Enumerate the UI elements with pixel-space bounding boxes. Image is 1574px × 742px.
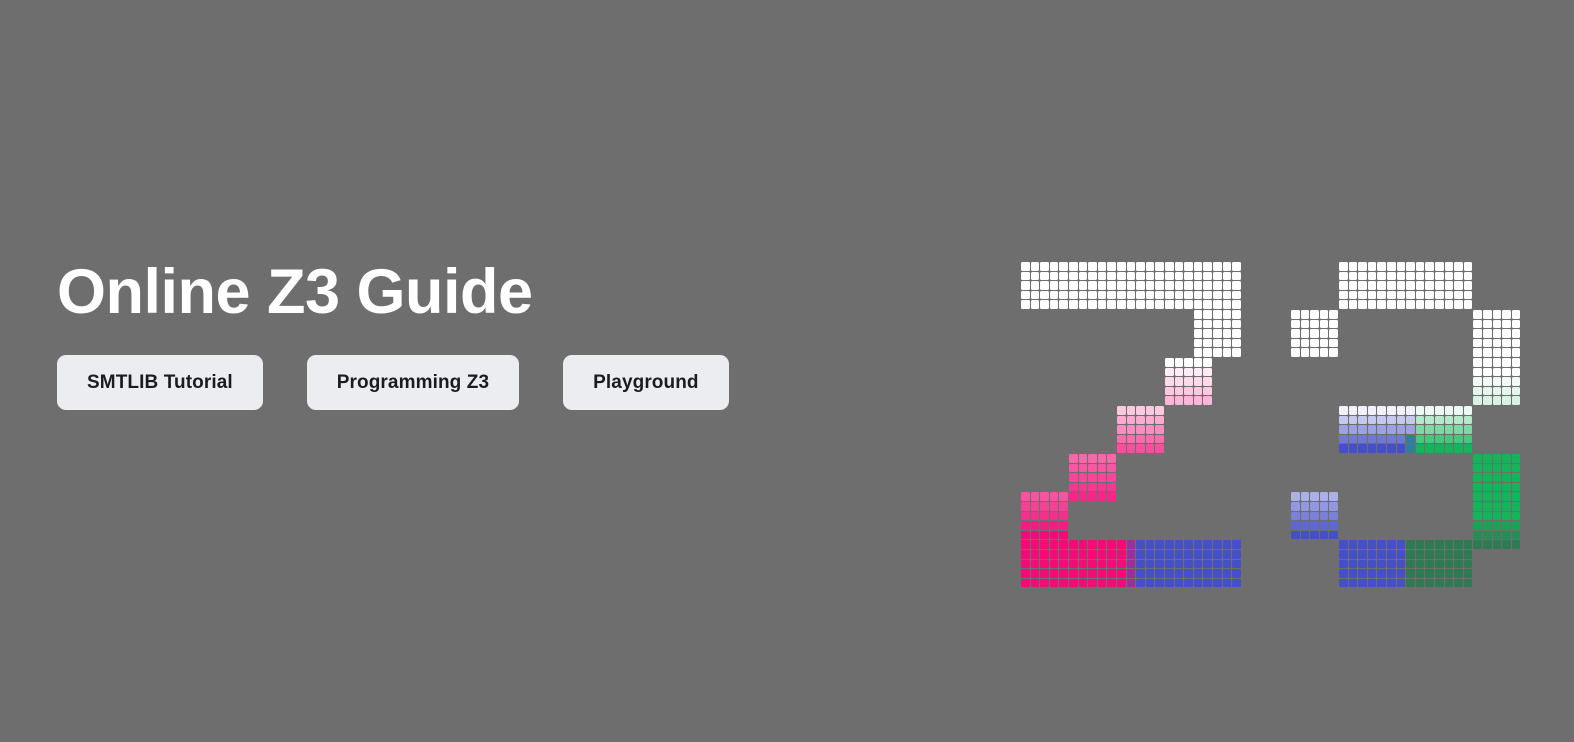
- pixel-cell: [1059, 531, 1068, 540]
- pixel-cell: [1079, 473, 1088, 482]
- pixel-cell: [1397, 300, 1406, 309]
- pixel-cell: [1377, 281, 1386, 290]
- pixel-cell: [1088, 569, 1097, 578]
- pixel-cell: [1310, 512, 1319, 521]
- pixel-cell: [1184, 291, 1193, 300]
- pixel-cell: [1473, 473, 1482, 482]
- pixel-cell: [1416, 272, 1425, 281]
- pixel-cell: [1454, 579, 1463, 588]
- pixel-cell: [1406, 300, 1415, 309]
- pixel-cell: [1175, 291, 1184, 300]
- pixel-cell: [1483, 512, 1492, 521]
- pixel-cell: [1223, 291, 1232, 300]
- pixel-cell: [1069, 560, 1078, 569]
- pixel-cell: [1464, 569, 1473, 578]
- pixel-cell: [1291, 502, 1300, 511]
- pixel-cell: [1425, 560, 1434, 569]
- pixel-cell: [1165, 291, 1174, 300]
- pixel-cell: [1387, 579, 1396, 588]
- pixel-cell: [1213, 310, 1222, 319]
- pixel-cell: [1416, 579, 1425, 588]
- pixel-cell: [1425, 550, 1434, 559]
- pixel-cell: [1483, 473, 1492, 482]
- pixel-cell: [1339, 272, 1348, 281]
- pixel-cell: [1117, 550, 1126, 559]
- pixel-cell: [1136, 300, 1145, 309]
- pixel-cell: [1165, 550, 1174, 559]
- pixel-cell: [1050, 262, 1059, 271]
- pixel-cell: [1213, 569, 1222, 578]
- pixel-cell: [1320, 310, 1329, 319]
- pixel-cell: [1127, 569, 1136, 578]
- pixel-cell: [1493, 310, 1502, 319]
- pixel-cell: [1050, 560, 1059, 569]
- pixel-cell: [1079, 300, 1088, 309]
- pixel-cell: [1146, 300, 1155, 309]
- pixel-cell: [1136, 435, 1145, 444]
- pixel-cell: [1088, 281, 1097, 290]
- pixel-cell: [1223, 569, 1232, 578]
- pixel-cell: [1387, 416, 1396, 425]
- pixel-cell: [1223, 579, 1232, 588]
- pixel-cell: [1291, 339, 1300, 348]
- pixel-cell: [1040, 579, 1049, 588]
- pixel-cell: [1464, 425, 1473, 434]
- pixel-cell: [1184, 540, 1193, 549]
- pixel-cell: [1059, 300, 1068, 309]
- pixel-cell: [1069, 492, 1078, 501]
- pixel-cell: [1184, 550, 1193, 559]
- pixel-cell: [1079, 540, 1088, 549]
- pixel-cell: [1301, 502, 1310, 511]
- playground-button[interactable]: Playground: [563, 355, 729, 410]
- pixel-cell: [1107, 262, 1116, 271]
- pixel-cell: [1127, 281, 1136, 290]
- pixel-cell: [1050, 531, 1059, 540]
- pixel-cell: [1175, 300, 1184, 309]
- pixel-cell: [1406, 262, 1415, 271]
- pixel-cell: [1050, 300, 1059, 309]
- pixel-cell: [1232, 579, 1241, 588]
- pixel-cell: [1155, 569, 1164, 578]
- pixel-cell: [1329, 329, 1338, 338]
- pixel-cell: [1127, 416, 1136, 425]
- pixel-cell: [1146, 550, 1155, 559]
- pixel-cell: [1031, 502, 1040, 511]
- pixel-cell: [1339, 569, 1348, 578]
- pixel-cell: [1339, 291, 1348, 300]
- pixel-cell: [1512, 396, 1521, 405]
- pixel-cell: [1425, 444, 1434, 453]
- pixel-cell: [1291, 310, 1300, 319]
- pixel-cell: [1454, 406, 1463, 415]
- pixel-cell: [1117, 300, 1126, 309]
- pixel-cell: [1175, 262, 1184, 271]
- pixel-cell: [1464, 550, 1473, 559]
- pixel-cell: [1136, 560, 1145, 569]
- pixel-cell: [1107, 540, 1116, 549]
- pixel-cell: [1454, 540, 1463, 549]
- pixel-cell: [1320, 492, 1329, 501]
- pixel-cell: [1088, 579, 1097, 588]
- pixel-cell: [1213, 579, 1222, 588]
- pixel-cell: [1310, 339, 1319, 348]
- pixel-cell: [1387, 550, 1396, 559]
- pixel-cell: [1445, 540, 1454, 549]
- pixel-cell: [1155, 425, 1164, 434]
- pixel-cell: [1329, 310, 1338, 319]
- pixel-cell: [1136, 550, 1145, 559]
- pixel-cell: [1387, 272, 1396, 281]
- pixel-cell: [1146, 560, 1155, 569]
- pixel-cell: [1445, 569, 1454, 578]
- pixel-cell: [1194, 348, 1203, 357]
- pixel-cell: [1194, 579, 1203, 588]
- pixel-cell: [1146, 569, 1155, 578]
- pixel-cell: [1059, 502, 1068, 511]
- pixel-cell: [1223, 272, 1232, 281]
- pixel-cell: [1232, 310, 1241, 319]
- pixel-cell: [1406, 560, 1415, 569]
- pixel-cell: [1117, 262, 1126, 271]
- pixel-cell: [1107, 454, 1116, 463]
- pixel-cell: [1098, 550, 1107, 559]
- pixel-cell: [1146, 444, 1155, 453]
- pixel-cell: [1301, 320, 1310, 329]
- pixel-cell: [1406, 425, 1415, 434]
- pixel-cell: [1368, 579, 1377, 588]
- pixel-cell: [1021, 521, 1030, 530]
- pixel-cell: [1483, 483, 1492, 492]
- pixel-cell: [1040, 272, 1049, 281]
- pixel-cell: [1040, 540, 1049, 549]
- pixel-cell: [1493, 339, 1502, 348]
- pixel-cell: [1079, 464, 1088, 473]
- pixel-cell: [1502, 310, 1511, 319]
- pixel-cell: [1203, 281, 1212, 290]
- pixel-cell: [1368, 550, 1377, 559]
- pixel-cell: [1349, 281, 1358, 290]
- programming-z3-button[interactable]: Programming Z3: [307, 355, 519, 410]
- pixel-cell: [1059, 569, 1068, 578]
- pixel-cell: [1445, 272, 1454, 281]
- pixel-cell: [1127, 425, 1136, 434]
- pixel-cell: [1502, 492, 1511, 501]
- pixel-cell: [1223, 560, 1232, 569]
- pixel-cell: [1194, 339, 1203, 348]
- pixel-cell: [1483, 396, 1492, 405]
- pixel-cell: [1358, 300, 1367, 309]
- pixel-cell: [1117, 569, 1126, 578]
- pixel-cell: [1464, 579, 1473, 588]
- pixel-cell: [1358, 406, 1367, 415]
- pixel-cell: [1098, 483, 1107, 492]
- pixel-cell: [1368, 291, 1377, 300]
- pixel-cell: [1493, 387, 1502, 396]
- pixel-cell: [1502, 368, 1511, 377]
- pixel-cell: [1127, 291, 1136, 300]
- pixel-cell: [1493, 521, 1502, 530]
- pixel-cell: [1339, 406, 1348, 415]
- pixel-cell: [1435, 560, 1444, 569]
- pixel-cell: [1165, 560, 1174, 569]
- pixel-cell: [1445, 560, 1454, 569]
- pixel-cell: [1416, 291, 1425, 300]
- pixel-cell: [1358, 291, 1367, 300]
- pixel-cell: [1194, 329, 1203, 338]
- pixel-cell: [1031, 550, 1040, 559]
- pixel-cell: [1502, 358, 1511, 367]
- pixel-cell: [1454, 262, 1463, 271]
- pixel-cell: [1483, 339, 1492, 348]
- pixel-cell: [1425, 281, 1434, 290]
- pixel-cell: [1329, 320, 1338, 329]
- pixel-cell: [1387, 444, 1396, 453]
- pixel-cell: [1117, 272, 1126, 281]
- pixel-cell: [1473, 329, 1482, 338]
- pixel-cell: [1397, 416, 1406, 425]
- pixel-cell: [1088, 560, 1097, 569]
- pixel-cell: [1464, 272, 1473, 281]
- cta-button-row: SMTLIB Tutorial Programming Z3 Playgroun…: [57, 355, 957, 410]
- pixel-cell: [1310, 348, 1319, 357]
- pixel-cell: [1184, 272, 1193, 281]
- pixel-cell: [1059, 262, 1068, 271]
- pixel-cell: [1493, 540, 1502, 549]
- pixel-cell: [1050, 281, 1059, 290]
- pixel-cell: [1397, 262, 1406, 271]
- pixel-cell: [1349, 560, 1358, 569]
- pixel-cell: [1397, 569, 1406, 578]
- pixel-cell: [1435, 540, 1444, 549]
- pixel-cell: [1175, 569, 1184, 578]
- pixel-cell: [1069, 454, 1078, 463]
- pixel-cell: [1117, 406, 1126, 415]
- pixel-cell: [1339, 416, 1348, 425]
- pixel-cell: [1435, 416, 1444, 425]
- pixel-cell: [1320, 339, 1329, 348]
- pixel-cell: [1021, 550, 1030, 559]
- pixel-cell: [1493, 320, 1502, 329]
- pixel-cell: [1088, 454, 1097, 463]
- pixel-cell: [1098, 579, 1107, 588]
- pixel-cell: [1493, 368, 1502, 377]
- pixel-cell: [1329, 492, 1338, 501]
- pixel-cell: [1483, 329, 1492, 338]
- pixel-cell: [1194, 272, 1203, 281]
- pixel-cell: [1349, 435, 1358, 444]
- pixel-cell: [1512, 310, 1521, 319]
- pixel-cell: [1136, 540, 1145, 549]
- pixel-cell: [1203, 329, 1212, 338]
- pixel-cell: [1098, 291, 1107, 300]
- pixel-cell: [1203, 358, 1212, 367]
- pixel-cell: [1098, 300, 1107, 309]
- pixel-cell: [1098, 569, 1107, 578]
- pixel-cell: [1107, 464, 1116, 473]
- pixel-cell: [1329, 521, 1338, 530]
- pixel-cell: [1368, 300, 1377, 309]
- pixel-cell: [1416, 435, 1425, 444]
- pixel-cell: [1059, 512, 1068, 521]
- pixel-cell: [1377, 300, 1386, 309]
- pixel-cell: [1194, 300, 1203, 309]
- pixel-cell: [1502, 540, 1511, 549]
- pixel-cell: [1069, 272, 1078, 281]
- pixel-cell: [1416, 425, 1425, 434]
- pixel-cell: [1088, 473, 1097, 482]
- pixel-cell: [1349, 406, 1358, 415]
- pixel-cell: [1425, 416, 1434, 425]
- pixel-cell: [1146, 416, 1155, 425]
- pixel-cell: [1320, 531, 1329, 540]
- pixel-cell: [1213, 329, 1222, 338]
- pixel-cell: [1098, 272, 1107, 281]
- pixel-cell: [1493, 473, 1502, 482]
- pixel-cell: [1069, 569, 1078, 578]
- pixel-cell: [1301, 492, 1310, 501]
- pixel-cell: [1512, 483, 1521, 492]
- pixel-cell: [1473, 396, 1482, 405]
- pixel-cell: [1425, 579, 1434, 588]
- pixel-cell: [1397, 560, 1406, 569]
- pixel-cell: [1136, 406, 1145, 415]
- pixel-cell: [1232, 262, 1241, 271]
- pixel-cell: [1088, 262, 1097, 271]
- pixel-cell: [1203, 560, 1212, 569]
- pixel-cell: [1358, 425, 1367, 434]
- pixel-cell: [1310, 531, 1319, 540]
- pixel-cell: [1136, 569, 1145, 578]
- pixel-cell: [1425, 272, 1434, 281]
- pixel-cell: [1050, 512, 1059, 521]
- pixel-cell: [1107, 300, 1116, 309]
- pixel-cell: [1387, 560, 1396, 569]
- pixel-cell: [1175, 550, 1184, 559]
- pixel-cell: [1502, 483, 1511, 492]
- pixel-cell: [1136, 425, 1145, 434]
- pixel-cell: [1031, 272, 1040, 281]
- pixel-cell: [1223, 300, 1232, 309]
- pixel-cell: [1377, 406, 1386, 415]
- pixel-cell: [1425, 540, 1434, 549]
- pixel-cell: [1184, 358, 1193, 367]
- pixel-cell: [1146, 435, 1155, 444]
- pixel-cell: [1194, 387, 1203, 396]
- pixel-cell: [1445, 425, 1454, 434]
- pixel-cell: [1349, 425, 1358, 434]
- pixel-cell: [1406, 550, 1415, 559]
- pixel-cell: [1040, 521, 1049, 530]
- pixel-cell: [1107, 550, 1116, 559]
- pixel-cell: [1232, 329, 1241, 338]
- pixel-cell: [1291, 512, 1300, 521]
- smtlib-tutorial-button[interactable]: SMTLIB Tutorial: [57, 355, 263, 410]
- pixel-cell: [1377, 444, 1386, 453]
- pixel-cell: [1512, 387, 1521, 396]
- pixel-cell: [1377, 272, 1386, 281]
- pixel-cell: [1358, 281, 1367, 290]
- pixel-cell: [1184, 569, 1193, 578]
- pixel-cell: [1155, 291, 1164, 300]
- pixel-cell: [1339, 300, 1348, 309]
- pixel-cell: [1223, 339, 1232, 348]
- pixel-cell: [1117, 291, 1126, 300]
- pixel-cell: [1175, 377, 1184, 386]
- pixel-cell: [1416, 540, 1425, 549]
- pixel-cell: [1088, 483, 1097, 492]
- pixel-cell: [1040, 291, 1049, 300]
- pixel-cell: [1512, 521, 1521, 530]
- pixel-cell: [1194, 291, 1203, 300]
- pixel-cell: [1416, 560, 1425, 569]
- pixel-cell: [1473, 483, 1482, 492]
- pixel-cell: [1320, 521, 1329, 530]
- pixel-cell: [1454, 281, 1463, 290]
- pixel-cell: [1291, 320, 1300, 329]
- pixel-cell: [1397, 444, 1406, 453]
- pixel-cell: [1512, 464, 1521, 473]
- pixel-cell: [1310, 521, 1319, 530]
- pixel-cell: [1184, 579, 1193, 588]
- pixel-cell: [1079, 291, 1088, 300]
- pixel-cell: [1473, 540, 1482, 549]
- pixel-cell: [1213, 262, 1222, 271]
- pixel-cell: [1416, 281, 1425, 290]
- pixel-cell: [1349, 579, 1358, 588]
- pixel-cell: [1040, 492, 1049, 501]
- pixel-cell: [1445, 416, 1454, 425]
- pixel-cell: [1194, 569, 1203, 578]
- page-title: Online Z3 Guide: [57, 258, 957, 327]
- pixel-cell: [1349, 416, 1358, 425]
- pixel-cell: [1213, 272, 1222, 281]
- pixel-cell: [1155, 579, 1164, 588]
- pixel-cell: [1088, 492, 1097, 501]
- pixel-cell: [1368, 262, 1377, 271]
- pixel-cell: [1368, 444, 1377, 453]
- pixel-cell: [1184, 396, 1193, 405]
- pixel-cell: [1146, 425, 1155, 434]
- pixel-cell: [1406, 272, 1415, 281]
- pixel-cell: [1329, 531, 1338, 540]
- pixel-cell: [1088, 272, 1097, 281]
- pixel-cell: [1493, 492, 1502, 501]
- pixel-cell: [1059, 492, 1068, 501]
- pixel-cell: [1165, 272, 1174, 281]
- pixel-cell: [1483, 377, 1492, 386]
- pixel-cell: [1088, 540, 1097, 549]
- pixel-cell: [1059, 291, 1068, 300]
- pixel-cell: [1473, 387, 1482, 396]
- pixel-cell: [1107, 473, 1116, 482]
- pixel-cell: [1155, 550, 1164, 559]
- pixel-cell: [1406, 569, 1415, 578]
- pixel-cell: [1031, 560, 1040, 569]
- pixel-cell: [1358, 272, 1367, 281]
- pixel-cell: [1194, 358, 1203, 367]
- pixel-cell: [1349, 569, 1358, 578]
- pixel-cell: [1377, 550, 1386, 559]
- pixel-cell: [1127, 540, 1136, 549]
- pixel-cell: [1454, 444, 1463, 453]
- pixel-cell: [1021, 579, 1030, 588]
- pixel-cell: [1397, 540, 1406, 549]
- pixel-cell: [1445, 444, 1454, 453]
- pixel-cell: [1079, 483, 1088, 492]
- pixel-cell: [1464, 406, 1473, 415]
- pixel-cell: [1203, 569, 1212, 578]
